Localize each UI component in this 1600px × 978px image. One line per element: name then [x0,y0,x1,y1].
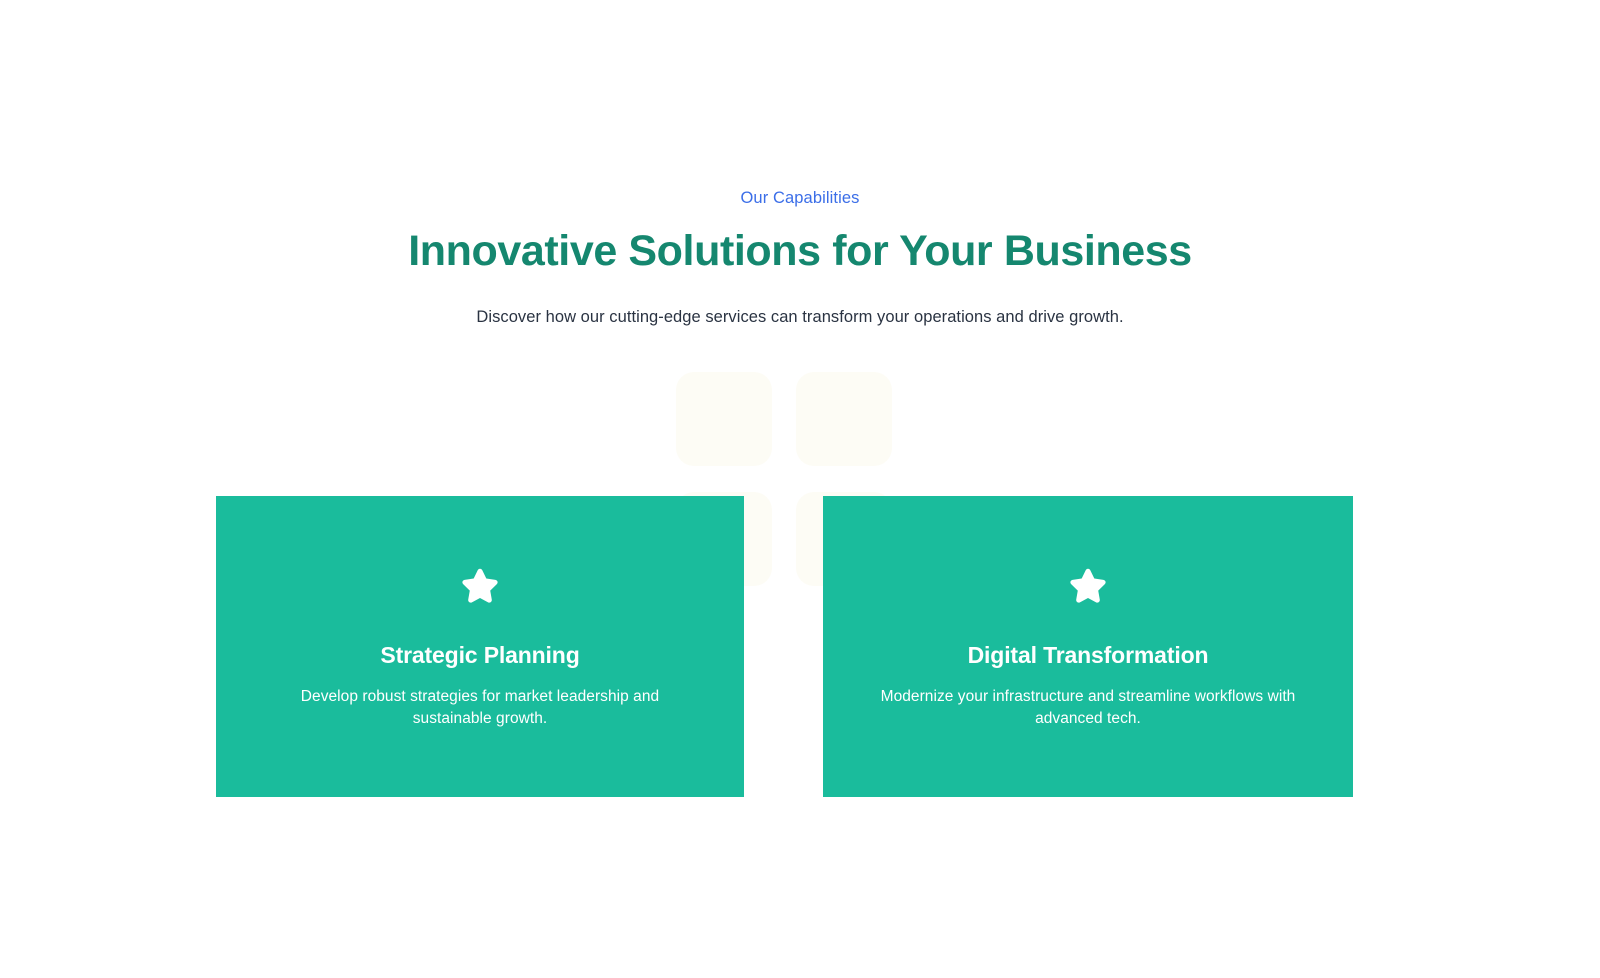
section-subtitle: Discover how our cutting-edge services c… [0,304,1600,330]
feature-card-title: Digital Transformation [968,640,1209,670]
feature-card-digital-transformation[interactable]: Digital Transformation Modernize your in… [823,496,1353,797]
feature-card-description: Develop robust strategies for market lea… [264,686,696,730]
feature-card-title: Strategic Planning [380,640,579,670]
section-eyebrow: Our Capabilities [0,186,1600,210]
feature-card-strategic-planning[interactable]: Strategic Planning Develop robust strate… [216,496,744,797]
skeleton-placeholder-box [796,372,892,466]
section-header: Our Capabilities Innovative Solutions fo… [0,186,1600,330]
star-icon [458,564,502,608]
skeleton-placeholder-box [676,372,772,466]
star-icon [1066,564,1110,608]
feature-card-description: Modernize your infrastructure and stream… [872,686,1304,730]
page-title: Innovative Solutions for Your Business [0,222,1600,280]
capabilities-section: Our Capabilities Innovative Solutions fo… [0,0,1600,978]
feature-card-list: Strategic Planning Develop robust strate… [216,496,1353,797]
